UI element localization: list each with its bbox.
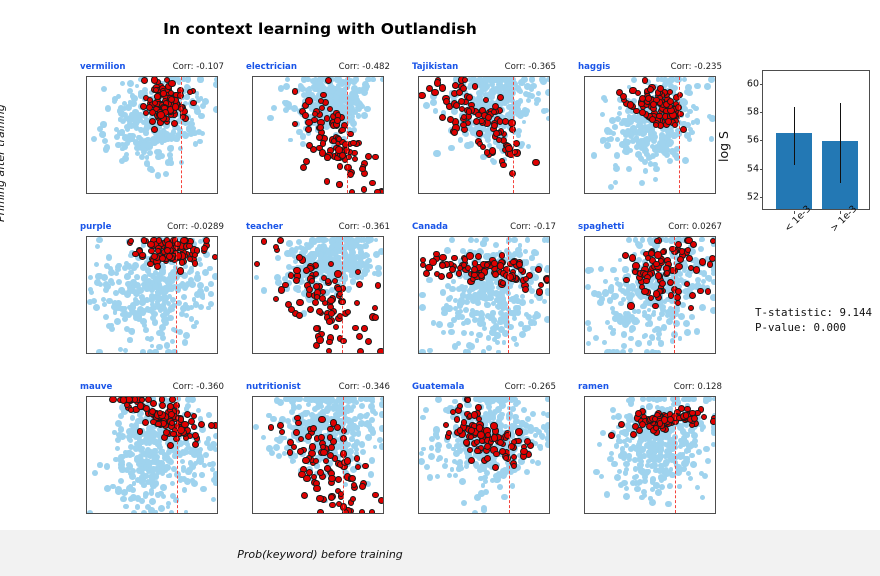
- scatter-point-background: [273, 444, 280, 451]
- scatter-point-background: [204, 440, 210, 446]
- scatter-point-background: [665, 128, 672, 135]
- scatter-point-background: [211, 497, 216, 502]
- scatter-point-background: [451, 108, 458, 115]
- scatter-point-background: [635, 340, 642, 347]
- scatter-point-background: [446, 443, 452, 449]
- panel-correlation-label: Corr: -0.107: [173, 62, 224, 72]
- scatter-point-primed: [327, 452, 334, 459]
- scatter-point-background: [491, 159, 497, 165]
- scatter-point-background: [600, 112, 605, 117]
- scatter-point-primed: [677, 111, 683, 117]
- scatter-panel-teacher: teacherCorr: -0.361102210231024102510261…: [226, 222, 392, 382]
- scatter-point-background: [167, 145, 174, 152]
- x-tick-mark: [378, 396, 379, 397]
- y-tick-mark: [584, 85, 585, 86]
- scatter-point-primed: [172, 103, 179, 110]
- scatter-point-background: [612, 124, 618, 130]
- scatter-point-background: [306, 402, 311, 407]
- y-tick-mark: [418, 422, 419, 423]
- scatter-point-background: [120, 312, 125, 317]
- scatter-point-background: [102, 138, 108, 144]
- scatter-point-primed: [446, 272, 453, 279]
- y-tick-mark: [418, 321, 419, 322]
- scatter-point-background: [546, 116, 550, 121]
- scatter-point-background: [310, 413, 316, 419]
- scatter-point-primed: [629, 254, 636, 261]
- scatter-point-primed: [677, 256, 684, 263]
- scatter-point-background: [687, 273, 692, 278]
- scatter-point-background: [194, 320, 199, 325]
- scatter-point-background: [656, 331, 662, 337]
- panel-correlation-label: Corr: -0.361: [339, 222, 390, 232]
- scatter-point-primed: [328, 444, 335, 451]
- scatter-point-background: [150, 344, 155, 349]
- scatter-point-primed: [339, 127, 345, 133]
- x-tick-mark: [108, 76, 109, 77]
- scatter-point-background: [119, 158, 125, 164]
- scatter-point-background: [203, 452, 209, 458]
- scatter-point-background: [126, 312, 132, 318]
- scatter-point-background: [379, 425, 384, 432]
- scatter-point-primed: [261, 238, 268, 245]
- scatter-point-background: [516, 400, 521, 405]
- y-tick-mark: [252, 457, 253, 458]
- scatter-point-primed: [151, 76, 158, 83]
- scatter-point-background: [587, 267, 593, 273]
- scatter-point-primed: [357, 348, 364, 354]
- y-tick-mark: [584, 345, 585, 346]
- scatter-panel-vermilion: vermilionCorr: -0.1071021102210231024102…: [60, 62, 226, 222]
- panel-keyword-label: haggis: [578, 62, 610, 72]
- scatter-point-primed: [302, 457, 310, 465]
- scatter-point-primed: [268, 424, 274, 430]
- y-tick-mark: [584, 247, 585, 248]
- scatter-point-background: [149, 475, 156, 482]
- scatter-point-background: [106, 254, 112, 260]
- scatter-point-background: [104, 263, 110, 269]
- y-tick-mark: [86, 439, 87, 440]
- scatter-point-primed: [327, 106, 333, 112]
- scatter-point-primed: [277, 237, 284, 244]
- scatter-point-background: [470, 308, 475, 313]
- scatter-point-primed: [320, 449, 327, 456]
- scatter-point-background: [632, 320, 637, 325]
- scatter-point-primed: [298, 436, 304, 442]
- panel-keyword-label: vermilion: [80, 62, 125, 72]
- scatter-point-background: [350, 114, 355, 119]
- panel-header-spaghetti: spaghettiCorr: 0.0267: [558, 222, 724, 236]
- scatter-point-primed: [324, 178, 331, 185]
- scatter-point-background: [628, 348, 633, 353]
- scatter-point-primed: [327, 304, 333, 310]
- scatter-point-background: [171, 349, 178, 354]
- scatter-point-background: [166, 505, 171, 510]
- scatter-point-background: [685, 84, 692, 91]
- scatter-point-background: [499, 401, 505, 407]
- scatter-panel-mauve: mauveCorr: -0.36010201021102210231024102…: [60, 382, 226, 542]
- scatter-point-background: [653, 166, 660, 173]
- scatter-point-background: [270, 416, 277, 423]
- scatter-point-background: [682, 157, 689, 164]
- scatter-point-primed: [483, 97, 489, 103]
- scatter-point-background: [520, 80, 525, 85]
- scatter-point-primed: [356, 281, 363, 288]
- scatter-point-background: [362, 243, 368, 249]
- scatter-point-background: [529, 288, 535, 294]
- scatter-point-background: [193, 301, 200, 308]
- scatter-point-background: [122, 265, 128, 271]
- scatter-point-background: [493, 242, 499, 248]
- scatter-point-primed: [451, 255, 457, 261]
- scatter-point-primed: [352, 156, 358, 162]
- scatter-point-background: [169, 510, 175, 514]
- scatter-point-background: [608, 184, 614, 190]
- scatter-point-background: [368, 471, 374, 477]
- scatter-point-primed: [168, 80, 176, 88]
- scatter-point-background: [115, 267, 121, 273]
- scatter-point-background: [178, 283, 183, 288]
- scatter-point-background: [637, 131, 642, 136]
- scatter-point-primed: [326, 318, 332, 324]
- scatter-point-background: [185, 76, 191, 82]
- scatter-point-background: [104, 144, 110, 150]
- scatter-point-background: [444, 247, 451, 254]
- scatter-point-background: [275, 255, 281, 261]
- scatter-point-background: [638, 155, 643, 160]
- scatter-point-primed: [184, 411, 191, 418]
- y-tick-mark: [252, 439, 253, 440]
- scatter-point-primed: [201, 245, 208, 252]
- scatter-point-background: [604, 142, 611, 149]
- scatter-point-background: [189, 281, 196, 288]
- scatter-point-primed: [497, 118, 503, 124]
- scatter-point-primed: [653, 122, 659, 128]
- scatter-point-background: [119, 129, 124, 134]
- scatter-point-primed: [316, 134, 323, 141]
- scatter-point-background: [113, 310, 118, 315]
- scatter-point-primed: [318, 416, 325, 423]
- panel-header-tajikistan: TajikistanCorr: -0.365: [392, 62, 558, 76]
- scatter-point-background: [647, 340, 653, 346]
- scatter-point-background: [545, 396, 550, 402]
- scatter-point-background: [419, 292, 426, 299]
- scatter-point-primed: [305, 97, 312, 104]
- scatter-point-primed: [324, 154, 330, 160]
- scatter-point-primed: [293, 429, 300, 436]
- scatter-point-primed: [372, 492, 378, 498]
- scatter-point-primed: [349, 189, 355, 194]
- scatter-point-primed: [627, 302, 634, 309]
- scatter-point-background: [529, 255, 535, 261]
- scatter-point-background: [499, 86, 504, 91]
- scatter-point-primed: [336, 181, 342, 187]
- scatter-point-primed: [328, 494, 335, 501]
- scatter-point-primed: [326, 348, 332, 354]
- scatter-point-primed: [356, 333, 363, 340]
- scatter-panel-grid: vermilionCorr: -0.1071021102210231024102…: [60, 62, 720, 542]
- panel-correlation-label: Corr: 0.0267: [668, 222, 722, 232]
- scatter-point-background: [95, 244, 100, 249]
- scatter-point-background: [162, 317, 168, 323]
- scatter-point-background: [379, 443, 384, 449]
- scatter-point-primed: [337, 163, 343, 169]
- scatter-point-background: [363, 263, 370, 270]
- scatter-point-background: [271, 105, 277, 111]
- scatter-point-background: [481, 483, 486, 488]
- scatter-point-primed: [345, 309, 352, 316]
- scatter-point-primed: [316, 336, 324, 344]
- scatter-point-background: [622, 266, 628, 272]
- scatter-point-background: [486, 345, 492, 351]
- scatter-point-background: [530, 459, 535, 464]
- scatter-point-background: [650, 128, 655, 133]
- scatter-panel-nutritionist: nutritionistCorr: -0.3461020102110221023…: [226, 382, 392, 542]
- scatter-point-background: [626, 166, 632, 172]
- scatter-point-primed: [317, 124, 324, 131]
- scatter-point-background: [545, 441, 550, 447]
- scatter-point-background: [213, 433, 218, 439]
- x-tick-mark: [275, 236, 276, 237]
- scatter-point-primed: [491, 260, 497, 266]
- scatter-point-background: [496, 77, 501, 82]
- scatter-point-primed: [462, 77, 468, 83]
- scatter-point-background: [647, 237, 652, 242]
- scatter-point-primed: [447, 116, 454, 123]
- scatter-point-background: [143, 130, 148, 135]
- scatter-point-background: [178, 477, 183, 482]
- scatter-point-primed: [643, 278, 649, 284]
- scatter-point-background: [186, 467, 193, 474]
- scatter-point-primed: [324, 115, 330, 121]
- scatter-point-primed: [309, 278, 315, 284]
- scatter-point-background: [151, 449, 158, 456]
- scatter-point-primed: [639, 109, 646, 116]
- panel-correlation-label: Corr: -0.235: [671, 62, 722, 72]
- scatter-point-background: [379, 411, 384, 418]
- scatter-point-primed: [653, 290, 660, 297]
- scatter-point-primed: [292, 88, 299, 95]
- scatter-point-background: [188, 131, 194, 137]
- scatter-point-background: [135, 504, 140, 509]
- scatter-point-background: [208, 291, 214, 297]
- scatter-point-background: [529, 76, 535, 82]
- y-tick-mark: [252, 85, 253, 86]
- scatter-point-primed: [513, 140, 520, 147]
- scatter-point-background: [147, 272, 152, 277]
- y-tick-mark: [86, 147, 87, 148]
- scatter-point-background: [200, 486, 207, 493]
- y-tick-mark: [418, 247, 419, 248]
- scatter-point-background: [520, 294, 525, 299]
- scatter-point-background: [123, 504, 128, 509]
- scatter-point-background: [523, 249, 528, 254]
- scatter-point-background: [130, 494, 137, 501]
- scatter-point-background: [427, 474, 434, 481]
- scatter-point-background: [684, 329, 691, 336]
- scatter-point-background: [353, 77, 358, 82]
- scatter-point-background: [424, 464, 430, 470]
- scatter-point-background: [507, 111, 513, 117]
- scatter-point-background: [211, 477, 217, 483]
- y-tick-mark: [86, 422, 87, 423]
- scatter-point-primed: [473, 118, 480, 125]
- scatter-point-primed: [423, 270, 430, 277]
- scatter-point-primed: [325, 77, 332, 84]
- panel-keyword-label: Canada: [412, 222, 448, 232]
- scatter-point-background: [358, 396, 364, 402]
- panel-keyword-label: nutritionist: [246, 382, 301, 392]
- scatter-axes-nutritionist: 102010211022102310241025102610−910−610−3…: [252, 396, 384, 514]
- scatter-point-background: [131, 510, 138, 515]
- scatter-point-primed: [688, 305, 694, 311]
- scatter-point-background: [194, 291, 201, 298]
- scatter-point-background: [658, 340, 663, 345]
- scatter-point-background: [165, 349, 171, 354]
- scatter-point-background: [659, 304, 666, 311]
- scatter-point-background: [195, 271, 200, 276]
- scatter-point-background: [474, 238, 479, 243]
- scatter-point-primed: [159, 255, 166, 262]
- scatter-point-primed: [147, 261, 154, 268]
- scatter-point-background: [641, 303, 647, 309]
- scatter-point-primed: [154, 263, 161, 270]
- scatter-point-background: [514, 107, 519, 112]
- scatter-point-primed: [137, 428, 144, 435]
- scatter-point-background: [699, 304, 706, 311]
- scatter-point-background: [426, 277, 433, 284]
- scatter-point-background: [545, 89, 550, 96]
- scatter-point-background: [510, 483, 516, 489]
- scatter-point-background: [190, 478, 195, 483]
- scatter-point-background: [458, 137, 464, 143]
- scatter-point-background: [472, 510, 478, 514]
- scatter-point-background: [348, 418, 353, 423]
- scatter-point-background: [182, 487, 188, 493]
- y-tick-mark: [584, 296, 585, 297]
- scatter-point-primed: [347, 131, 353, 137]
- scatter-point-background: [461, 330, 467, 336]
- scatter-point-background: [419, 349, 426, 354]
- y-tick-mark: [86, 271, 87, 272]
- scatter-point-primed: [212, 254, 218, 261]
- y-tick-mark: [86, 345, 87, 346]
- scatter-point-background: [359, 441, 366, 448]
- scatter-point-background: [158, 460, 165, 467]
- scatter-point-background: [292, 459, 297, 464]
- scatter-point-background: [126, 485, 133, 492]
- scatter-point-background: [206, 412, 212, 418]
- y-tick-mark: [86, 404, 87, 405]
- scatter-point-primed: [429, 258, 437, 266]
- scatter-point-primed: [288, 306, 295, 313]
- scatter-point-background: [361, 86, 367, 92]
- scatter-point-primed: [705, 288, 711, 294]
- y-tick-mark: [418, 345, 419, 346]
- scatter-point-background: [484, 302, 490, 308]
- scatter-point-background: [469, 331, 474, 336]
- scatter-point-primed: [502, 118, 509, 125]
- scatter-point-background: [636, 309, 641, 314]
- scatter-point-background: [359, 237, 364, 242]
- scatter-point-background: [545, 288, 550, 293]
- y-tick-mark: [584, 189, 585, 190]
- scatter-point-primed: [317, 509, 324, 514]
- scatter-point-background: [482, 237, 487, 242]
- scatter-point-background: [496, 294, 501, 299]
- scatter-point-background: [185, 403, 191, 409]
- scatter-point-primed: [171, 120, 178, 127]
- scatter-point-primed: [478, 272, 485, 279]
- scatter-point-background: [587, 326, 593, 332]
- y-tick-mark: [418, 510, 419, 511]
- scatter-point-background: [139, 137, 144, 142]
- scatter-point-background: [524, 469, 530, 475]
- scatter-point-background: [534, 97, 541, 104]
- scatter-point-background: [353, 100, 359, 106]
- scatter-point-background: [294, 246, 299, 251]
- scatter-point-primed: [418, 92, 425, 99]
- x-tick-mark: [521, 236, 522, 237]
- threshold-line: [342, 237, 343, 353]
- scatter-point-primed: [305, 126, 312, 133]
- scatter-point-background: [457, 459, 463, 465]
- scatter-point-background: [502, 76, 509, 83]
- scatter-point-background: [647, 308, 652, 313]
- scatter-point-primed: [324, 465, 331, 472]
- scatter-point-background: [118, 117, 123, 122]
- scatter-point-background: [647, 320, 653, 326]
- scatter-point-primed: [665, 118, 672, 125]
- scatter-point-primed: [169, 396, 176, 403]
- scatter-point-background: [631, 77, 637, 83]
- scatter-point-background: [544, 316, 550, 323]
- scatter-point-primed: [372, 314, 379, 321]
- scatter-point-background: [197, 455, 204, 462]
- y-tick-mark: [252, 247, 253, 248]
- scatter-point-background: [160, 484, 166, 490]
- scatter-point-background: [150, 510, 155, 514]
- scatter-axes-guatemala: 102010211022102310241025102610−910−610−3…: [418, 396, 550, 514]
- x-tick-mark: [441, 236, 442, 237]
- scatter-point-background: [435, 474, 440, 479]
- scatter-point-background: [490, 310, 495, 315]
- scatter-point-background: [329, 237, 336, 244]
- scatter-point-background: [213, 106, 218, 113]
- scatter-point-background: [613, 165, 620, 172]
- scatter-point-background: [160, 470, 166, 476]
- scatter-point-background: [645, 314, 652, 321]
- y-tick-mark: [86, 106, 87, 107]
- scatter-point-background: [710, 307, 716, 314]
- scatter-point-primed: [378, 497, 384, 504]
- scatter-point-background: [529, 299, 534, 304]
- scatter-point-background: [598, 266, 604, 272]
- scatter-point-primed: [361, 325, 368, 332]
- scatter-point-background: [129, 123, 134, 128]
- scatter-point-background: [667, 139, 674, 146]
- scatter-point-primed: [317, 469, 324, 476]
- scatter-point-primed: [307, 306, 314, 313]
- scatter-point-background: [181, 294, 187, 300]
- scatter-point-background: [375, 270, 382, 277]
- scatter-point-background: [184, 510, 189, 514]
- scatter-point-primed: [157, 111, 164, 118]
- scatter-point-background: [213, 81, 218, 88]
- scatter-point-background: [127, 80, 134, 87]
- scatter-point-background: [198, 262, 203, 267]
- scatter-point-background: [699, 237, 704, 242]
- scatter-point-primed: [500, 280, 506, 286]
